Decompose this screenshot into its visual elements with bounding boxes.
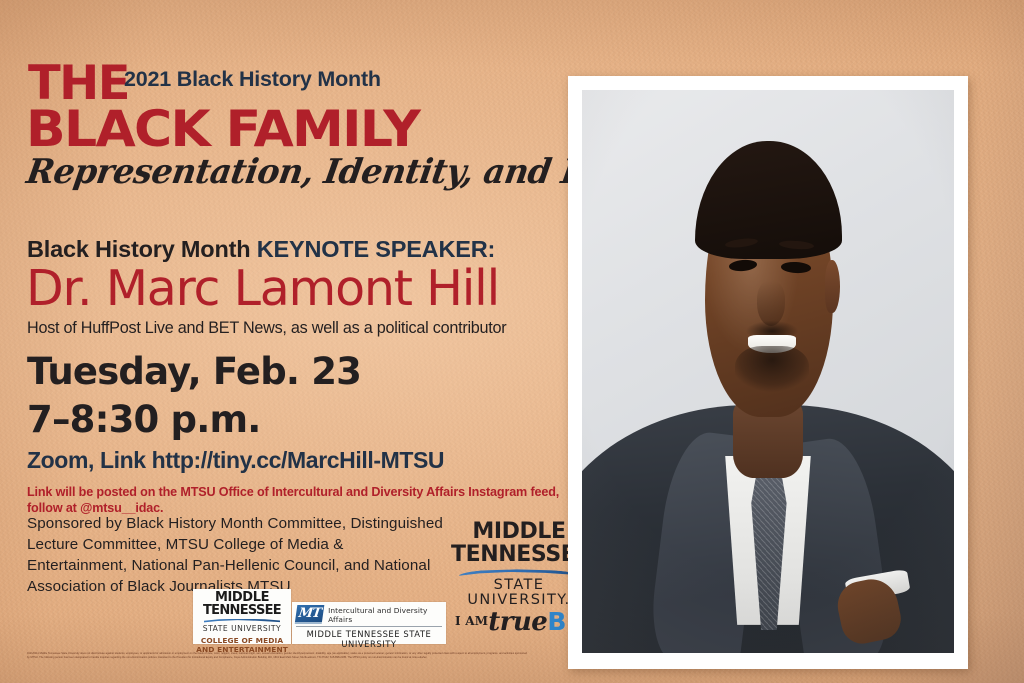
keynote-prefix: Black History Month <box>27 236 257 262</box>
portrait-ear <box>825 260 840 313</box>
legal-fine-print: 0121/0111 Middle Tennessee State Univers… <box>27 652 527 660</box>
speaker-bio: Host of HuffPost Live and BET News, as w… <box>27 319 506 338</box>
mt-monogram-icon: MT <box>295 605 325 624</box>
poster-text-column: THE 2021 Black History Month BLACK FAMIL… <box>0 0 568 683</box>
idac-divider <box>296 626 442 627</box>
sponsors-text: Sponsored by Black History Month Committ… <box>27 514 447 598</box>
come-line2: TENNESSEE <box>193 604 291 617</box>
come-line3: STATE UNIVERSITY <box>193 624 291 633</box>
mtsu-wordmark-line2: TENNESSEE <box>451 544 587 566</box>
trueblue-iam: I AM <box>455 614 488 628</box>
come-line1: MIDDLE <box>193 591 291 604</box>
portrait-nose <box>757 281 785 326</box>
mtsu-wordmark-line1: MIDDLE <box>451 521 587 543</box>
come-line4: COLLEGE OF MEDIA AND ENTERTAINMENT <box>193 636 291 654</box>
speaker-photo-frame <box>568 76 968 669</box>
kicker-2021-black-history-month: 2021 Black History Month <box>124 67 381 92</box>
portrait-beard <box>735 346 809 402</box>
title-black-family: BLACK FAMILY <box>26 104 419 154</box>
speaker-photo <box>582 90 954 653</box>
keynote-speaker-label: Black History Month KEYNOTE SPEAKER: <box>27 236 495 263</box>
instagram-link-note: Link will be posted on the MTSU Office o… <box>27 484 587 517</box>
come-swoosh-icon <box>204 619 280 623</box>
event-time: 7–8:30 p.m. <box>27 401 261 438</box>
idac-university: MIDDLE TENNESSEE STATE UNIVERSITY <box>296 629 442 649</box>
idac-top-row: MT Intercultural and Diversity Affairs <box>296 605 442 624</box>
event-zoom-link[interactable]: Zoom, Link http://tiny.cc/MarcHill-MTSU <box>27 447 444 474</box>
mtsu-wordmark-line3: STATE UNIVERSITY. <box>451 578 587 607</box>
logo-intercultural-diversity-affairs: MT Intercultural and Diversity Affairs M… <box>292 602 446 644</box>
trueblue-true: true <box>488 607 547 637</box>
keynote-emphasis: KEYNOTE SPEAKER: <box>257 236 495 262</box>
idac-department: Intercultural and Diversity Affairs <box>328 606 442 624</box>
mtsu-wordmark-logo: MIDDLE TENNESSEE STATE UNIVERSITY. <box>451 521 587 607</box>
event-date: Tuesday, Feb. 23 <box>27 353 361 390</box>
black-history-month-poster: THE 2021 Black History Month BLACK FAMIL… <box>0 0 1024 683</box>
mtsu-swoosh-icon <box>459 569 579 576</box>
logo-college-of-media-entertainment: MIDDLE TENNESSEE STATE UNIVERSITY COLLEG… <box>193 589 291 644</box>
portrait-hair <box>695 141 842 259</box>
speaker-name: Dr. Marc Lamont Hill <box>26 264 499 313</box>
